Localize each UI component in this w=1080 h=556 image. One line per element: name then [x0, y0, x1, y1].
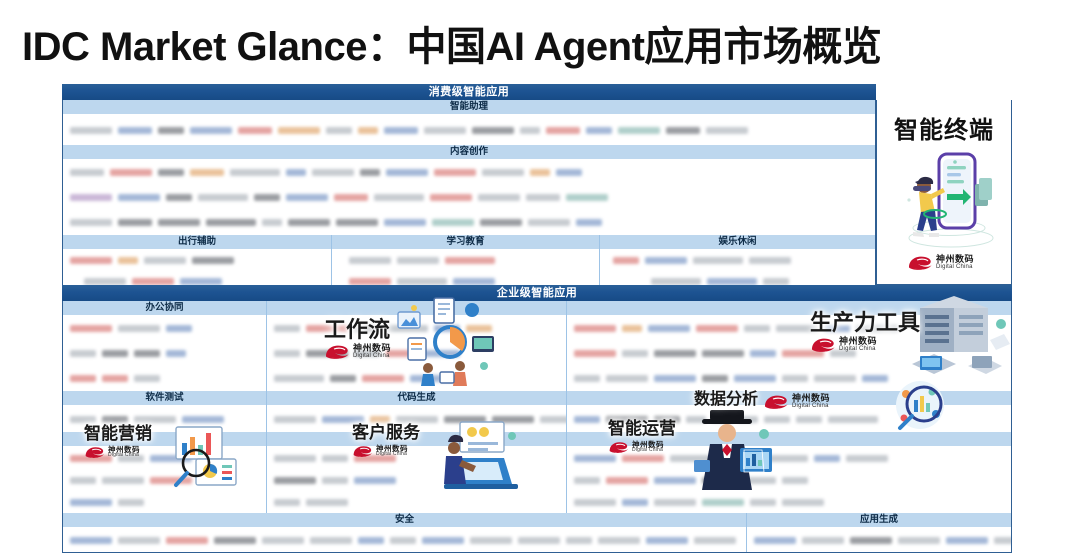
enterprise-cell-workflow [266, 301, 566, 391]
vendor-logo [434, 169, 476, 176]
vendor-logo [574, 375, 600, 382]
vendor-logo [397, 278, 447, 285]
logo-wall-productivity-tools [567, 316, 1011, 391]
vendor-logo [118, 219, 152, 226]
vendor-logo [386, 325, 428, 332]
enterprise-cell-data-analysis [566, 391, 1011, 432]
vendor-logo [396, 416, 438, 423]
vendor-logo [190, 127, 232, 134]
vendor-logo [645, 257, 687, 264]
vendor-logo [354, 350, 380, 357]
vendor-logo [144, 257, 186, 264]
vendor-logo [310, 537, 352, 544]
enterprise-cell-productivity-tools [566, 301, 1011, 391]
enterprise-label-code-generation[interactable]: 代码生成 [267, 391, 566, 406]
brand-lockup-smart-terminal: 神州数码 Digital China [907, 252, 974, 271]
vendor-logo [702, 375, 728, 382]
enterprise-cell-intelligent-operations [566, 432, 1011, 513]
logo-wall-office-collaboration [63, 316, 266, 391]
vendor-logo [520, 127, 540, 134]
enterprise-row-4: 安全 [63, 513, 1011, 552]
logo-wall-intelligent-marketing [63, 447, 266, 513]
vendor-logo [132, 278, 174, 285]
vendor-logo [776, 325, 818, 332]
vendor-logo [70, 455, 112, 462]
vendor-logo [750, 499, 776, 506]
vendor-logo [472, 127, 514, 134]
vendor-logo [706, 127, 748, 134]
vendor-logo [182, 416, 224, 423]
vendor-logo [134, 416, 176, 423]
vendor-logo [430, 194, 472, 201]
vendor-logo [830, 350, 856, 357]
consumer-header: 消费级智能应用 [62, 84, 876, 100]
vendor-logo [648, 325, 690, 332]
vendor-logo [898, 537, 940, 544]
vendor-logo [70, 350, 96, 357]
vendor-logo [322, 416, 364, 423]
vendor-logo [814, 455, 840, 462]
vendor-logo [734, 375, 776, 382]
vendor-logo [782, 350, 824, 357]
enterprise-label-office-collaboration[interactable]: 办公协同 [63, 301, 266, 316]
vendor-logo [796, 416, 822, 423]
enterprise-cell-office-collaboration: 办公协同 [63, 301, 266, 391]
smart-terminal-panel[interactable]: 智能终端 神州数码 Dig [876, 100, 1012, 285]
vendor-logo [322, 477, 348, 484]
vendor-logo [574, 499, 616, 506]
vendor-logo [466, 325, 492, 332]
vendor-logo [814, 375, 856, 382]
vendor-logo [646, 537, 688, 544]
logo-wall-intelligent-assistant [63, 115, 875, 145]
vendor-logo [846, 455, 888, 462]
vendor-logo [702, 477, 728, 484]
vendor-logo [530, 169, 550, 176]
vendor-logo [286, 194, 328, 201]
vendor-logo [666, 127, 700, 134]
enterprise-cell-intelligent-marketing [63, 432, 266, 513]
vendor-logo [118, 257, 138, 264]
vendor-logo [734, 477, 776, 484]
vendor-logo [694, 537, 736, 544]
vendor-logo [574, 350, 616, 357]
vendor-logo [606, 477, 648, 484]
smart-terminal-board [876, 84, 1012, 100]
vendor-logo [192, 257, 234, 264]
vendor-logo [654, 350, 696, 357]
vendor-logo [166, 537, 208, 544]
digital-china-text: 神州数码 Digital China [936, 255, 974, 270]
vendor-logo [622, 499, 648, 506]
vendor-logo [70, 127, 112, 134]
vendor-logo [150, 455, 192, 462]
vendor-logo [70, 219, 112, 226]
vendor-logo [574, 455, 616, 462]
enterprise-label-customer-service-band[interactable] [267, 432, 566, 447]
logo-wall-data-analysis [567, 406, 1011, 432]
vendor-logo [374, 194, 424, 201]
vendor-logo [418, 350, 460, 357]
enterprise-label-productivity-band[interactable] [567, 301, 1011, 316]
enterprise-cell-software-testing: 软件测试 [63, 391, 266, 432]
vendor-logo [70, 375, 96, 382]
vendor-logo [528, 219, 570, 226]
vendor-logo [702, 350, 744, 357]
vendor-logo [274, 416, 316, 423]
vendor-logo [118, 325, 160, 332]
vendor-logo [150, 477, 192, 484]
vendor-logo [118, 537, 160, 544]
consumer-column-label-entertainment-leisure[interactable]: 娱乐休闲 [600, 235, 875, 250]
vendor-logo [566, 194, 608, 201]
vendor-logo [102, 416, 128, 423]
consumer-column-label-travel-assistance[interactable]: 出行辅助 [63, 235, 331, 250]
vendor-logo [70, 169, 104, 176]
smart-terminal-title: 智能终端 [877, 110, 1011, 145]
vendor-logo [118, 127, 152, 134]
vendor-logo [274, 455, 316, 462]
vendor-logo [362, 375, 404, 382]
vendor-logo [763, 278, 789, 285]
enterprise-row-3 [63, 432, 1011, 513]
vendor-logo [718, 455, 760, 462]
vendor-logo [288, 219, 330, 226]
vendor-logo [322, 455, 348, 462]
vendor-logo [453, 278, 495, 285]
smart-terminal-illustration [889, 142, 1003, 250]
enterprise-row-1: 办公协同 [63, 301, 1011, 391]
vendor-logo [654, 499, 696, 506]
vendor-logo [384, 219, 426, 226]
vendor-logo [312, 169, 354, 176]
vendor-logo [102, 350, 128, 357]
vendor-logo [134, 375, 160, 382]
logo-wall-workflow [267, 316, 566, 391]
enterprise-label-software-testing[interactable]: 软件测试 [63, 391, 266, 406]
enterprise-cell-security: 安全 [63, 513, 746, 552]
vendor-logo [670, 455, 712, 462]
vendor-logo [336, 219, 378, 226]
vendor-logo [180, 278, 222, 285]
logo-wall-security [63, 528, 746, 552]
vendor-logo [118, 455, 144, 462]
vendor-logo [696, 325, 738, 332]
digital-china-logo: 神州数码 Digital China [907, 254, 974, 271]
vendor-logo [254, 194, 280, 201]
vendor-logo [946, 537, 988, 544]
vendor-logo [354, 477, 396, 484]
vendor-logo [334, 194, 368, 201]
vendor-logo [598, 537, 640, 544]
vendor-logo [444, 416, 486, 423]
vendor-logo [862, 375, 888, 382]
vendor-logo [556, 169, 582, 176]
vendor-logo [613, 257, 639, 264]
enterprise-label-workflow-band[interactable] [267, 301, 566, 316]
vendor-logo [707, 278, 757, 285]
enterprise-label-marketing-band[interactable] [63, 432, 266, 447]
vendor-logo [158, 219, 200, 226]
logo-wall-application-generation [747, 528, 1011, 552]
enterprise-label-operations-band[interactable] [567, 432, 1011, 447]
vendor-logo [358, 127, 378, 134]
enterprise-header: 企业级智能应用 [62, 285, 1012, 301]
vendor-logo [306, 350, 348, 357]
digital-china-mark-icon [907, 254, 933, 271]
vendor-logo [370, 416, 390, 423]
vendor-logo [274, 325, 300, 332]
vendor-logo [278, 127, 320, 134]
vendor-logo [480, 219, 522, 226]
vendor-logo [384, 127, 418, 134]
vendor-logo [576, 219, 602, 226]
vendor-logo [274, 477, 316, 484]
vendor-logo [70, 257, 112, 264]
vendor-logo [434, 325, 460, 332]
vendor-logo [445, 257, 495, 264]
vendor-logo [198, 194, 248, 201]
vendor-logo [738, 416, 758, 423]
consumer-column-learning-education: 学习教育 [331, 235, 599, 292]
vendor-logo [390, 537, 416, 544]
vendor-logo [158, 127, 184, 134]
vendor-logo [274, 350, 300, 357]
vendor-logo [566, 537, 592, 544]
vendor-logo [70, 194, 112, 201]
vendor-logo [654, 477, 696, 484]
vendor-logo [166, 194, 192, 201]
vendor-logo [274, 375, 324, 382]
vendor-logo [166, 325, 192, 332]
vendor-logo [110, 169, 152, 176]
vendor-logo [574, 325, 616, 332]
consumer-section-intelligent-assistant[interactable]: 智能助理 [63, 100, 875, 115]
vendor-logo [286, 169, 306, 176]
enterprise-cell-code-generation: 代码生成 [266, 391, 566, 432]
vendor-logo [274, 499, 300, 506]
vendor-logo [518, 537, 560, 544]
consumer-board: 消费级智能应用 智能助理 [62, 84, 876, 293]
vendor-logo [622, 455, 664, 462]
logo-wall-content-creation [63, 160, 875, 235]
vendor-logo [686, 416, 706, 423]
vendor-logo [360, 169, 380, 176]
vendor-logo [70, 477, 96, 484]
vendor-logo [574, 477, 600, 484]
vendor-logo [166, 350, 186, 357]
enterprise-row-2: 软件测试 代码生成 [63, 391, 1011, 432]
vendor-logo [618, 127, 660, 134]
enterprise-label-application-generation[interactable]: 应用生成 [747, 513, 1011, 528]
vendor-logo [574, 416, 600, 423]
vendor-logo [470, 537, 512, 544]
vendor-logo [386, 169, 428, 176]
vendor-logo [102, 375, 128, 382]
vendor-logo [693, 257, 743, 264]
enterprise-board: 企业级智能应用 办公协同 [62, 285, 1012, 553]
vendor-logo [546, 127, 580, 134]
vendor-logo [606, 416, 648, 423]
vendor-logo [102, 477, 144, 484]
vendor-logo [850, 537, 892, 544]
vendor-logo [782, 499, 824, 506]
vendor-logo [482, 169, 524, 176]
vendor-logo [238, 127, 272, 134]
vendor-logo [654, 416, 680, 423]
vendor-logo [622, 350, 648, 357]
consumer-columns: 出行辅助 学习教育 [63, 235, 875, 292]
vendor-logo [766, 455, 808, 462]
vendor-logo [306, 499, 348, 506]
enterprise-cell-customer-service [266, 432, 566, 513]
page-title: IDC Market Glance：中国AI Agent应用市场概览 [22, 14, 881, 72]
vendor-logo [306, 325, 348, 332]
enterprise-label-data-analysis-band[interactable] [567, 391, 1011, 406]
vendor-logo [158, 169, 184, 176]
vendor-logo [397, 257, 439, 264]
vendor-logo [262, 219, 282, 226]
vendor-logo [134, 350, 160, 357]
vendor-logo [622, 325, 642, 332]
logo-wall-software-testing [63, 406, 266, 432]
vendor-logo [190, 169, 224, 176]
vendor-logo [386, 350, 412, 357]
vendor-logo [651, 278, 701, 285]
vendor-logo [782, 375, 808, 382]
vendor-logo [326, 127, 352, 134]
vendor-logo [84, 278, 126, 285]
vendor-logo [70, 416, 96, 423]
vendor-logo [764, 416, 790, 423]
vendor-logo [349, 257, 391, 264]
consumer-column-label-learning-education[interactable]: 学习教育 [332, 235, 599, 250]
consumer-column-entertainment-leisure: 娱乐休闲 [599, 235, 875, 292]
logo-wall-customer-service [267, 447, 566, 513]
vendor-logo [712, 416, 732, 423]
vendor-logo [606, 375, 648, 382]
vendor-logo [702, 499, 744, 506]
vendor-logo [744, 325, 770, 332]
vendor-logo [750, 350, 776, 357]
vendor-logo [358, 537, 384, 544]
vendor-logo [70, 499, 112, 506]
brand-name-en: Digital China [936, 264, 974, 270]
vendor-logo [478, 194, 520, 201]
vendor-logo [214, 537, 256, 544]
consumer-section-content-creation[interactable]: 内容创作 [63, 145, 875, 160]
vendor-logo [230, 169, 280, 176]
vendor-logo [654, 375, 696, 382]
vendor-logo [432, 219, 474, 226]
vendor-logo [492, 416, 534, 423]
consumer-column-travel-assistance: 出行辅助 [63, 235, 331, 292]
vendor-logo [754, 537, 796, 544]
vendor-logo [118, 194, 160, 201]
logo-wall-intelligent-operations [567, 447, 1011, 513]
vendor-logo [994, 537, 1012, 544]
vendor-logo [330, 375, 356, 382]
vendor-logo [526, 194, 560, 201]
vendor-logo [70, 537, 112, 544]
vendor-logo [118, 499, 144, 506]
vendor-logo [206, 219, 256, 226]
vendor-logo [828, 416, 878, 423]
vendor-logo [422, 537, 464, 544]
brand-name-cn: 神州数码 [936, 255, 974, 264]
enterprise-label-security[interactable]: 安全 [63, 513, 746, 528]
vendor-logo [354, 325, 380, 332]
vendor-logo [586, 127, 612, 134]
vendor-logo [856, 325, 898, 332]
vendor-logo [749, 257, 791, 264]
vendor-logo [782, 477, 808, 484]
vendor-logo [349, 278, 391, 285]
vendor-logo [824, 325, 850, 332]
vendor-logo [262, 537, 304, 544]
vendor-logo [354, 455, 396, 462]
vendor-logo [70, 325, 112, 332]
vendor-logo [424, 127, 466, 134]
vendor-logo [410, 375, 460, 382]
vendor-logo [802, 537, 844, 544]
logo-wall-code-generation [267, 406, 566, 432]
enterprise-cell-application-generation: 应用生成 [746, 513, 1011, 552]
